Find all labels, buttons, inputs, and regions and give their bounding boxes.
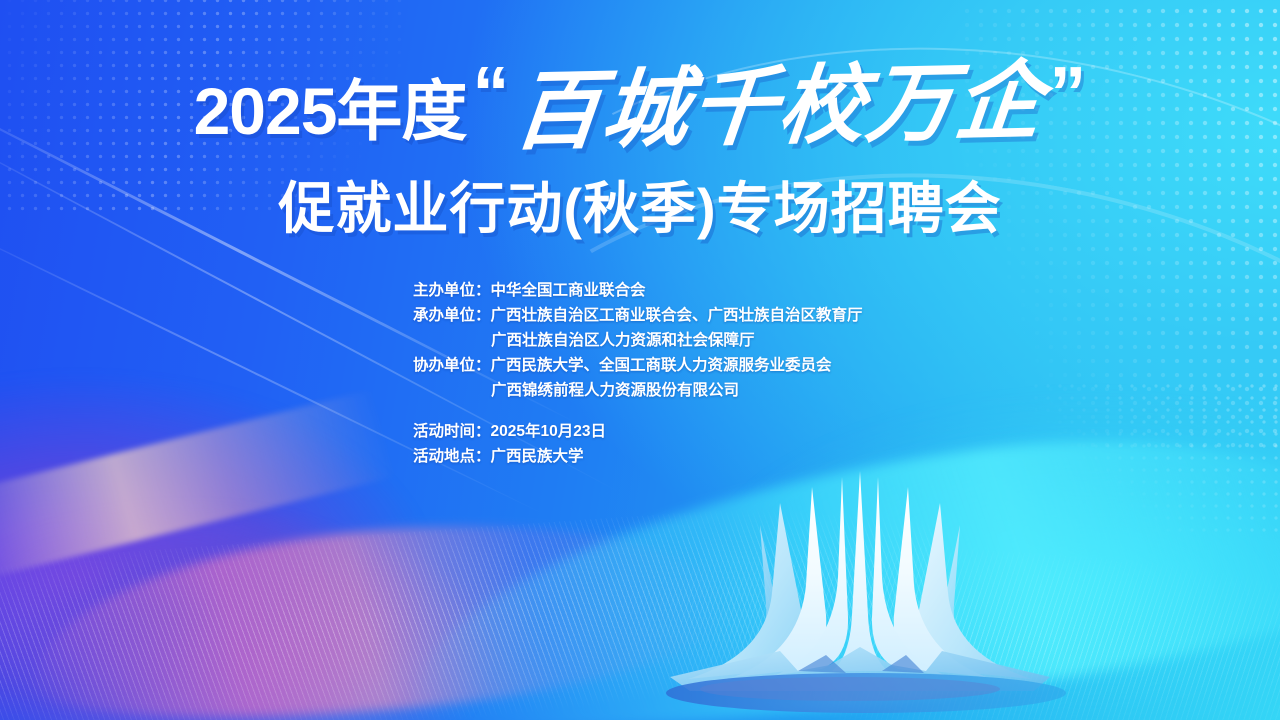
coorganizer-row-cont: 广西锦绣前程人力资源股份有限公司	[413, 378, 863, 403]
event-place-value: 广西民族大学	[491, 444, 584, 469]
guangxi-minzu-university-building-icon	[630, 465, 1090, 720]
organizer-value-line-1: 广西壮族自治区工商业联合会、广西壮族自治区教育厅	[491, 303, 863, 328]
host-label: 主办单位：	[413, 278, 491, 303]
event-place-row: 活动地点： 广西民族大学	[413, 444, 863, 469]
organizer-row: 承办单位： 广西壮族自治区工商业联合会、广西壮族自治区教育厅	[413, 303, 863, 328]
coorganizer-value-line-1: 广西民族大学、全国工商联人力资源服务业委员会	[491, 353, 832, 378]
event-time-row: 活动时间： 2025年10月23日	[413, 419, 863, 444]
quote-close-mark: ”	[1049, 56, 1086, 130]
event-info-block: 主办单位： 中华全国工商业联合会 承办单位： 广西壮族自治区工商业联合会、广西壮…	[413, 278, 863, 469]
info-spacer	[413, 403, 863, 419]
event-time-label: 活动时间：	[413, 419, 491, 444]
page-title: 促就业行动(秋季)专场招聘会	[0, 164, 1280, 245]
host-row: 主办单位： 中华全国工商业联合会	[413, 278, 863, 303]
title-year: 2025年度	[194, 78, 467, 144]
coorganizer-row: 协办单位： 广西民族大学、全国工商联人力资源服务业委员会	[413, 353, 863, 378]
poster-headline: 2025年度 “ 百城千校万企 ” 促就业行动(秋季)专场招聘会	[0, 64, 1280, 245]
host-value: 中华全国工商业联合会	[491, 278, 646, 303]
title-brush-text: 百城千校万企	[510, 58, 1048, 155]
poster-canvas: 2025年度 “ 百城千校万企 ” 促就业行动(秋季)专场招聘会 主办单位： 中…	[0, 0, 1280, 720]
event-place-label: 活动地点：	[413, 444, 491, 469]
organizer-value-line-2: 广西壮族自治区人力资源和社会保障厅	[491, 328, 755, 353]
organizer-label: 承办单位：	[413, 303, 491, 328]
organizer-row-cont: 广西壮族自治区人力资源和社会保障厅	[413, 328, 863, 353]
event-time-value: 2025年10月23日	[491, 419, 606, 444]
title-main-line: 2025年度 “ 百城千校万企 ”	[0, 64, 1280, 150]
coorganizer-label: 协办单位：	[413, 353, 491, 378]
coorganizer-value-line-2: 广西锦绣前程人力资源股份有限公司	[491, 378, 739, 403]
quote-open-mark: “	[472, 56, 509, 130]
